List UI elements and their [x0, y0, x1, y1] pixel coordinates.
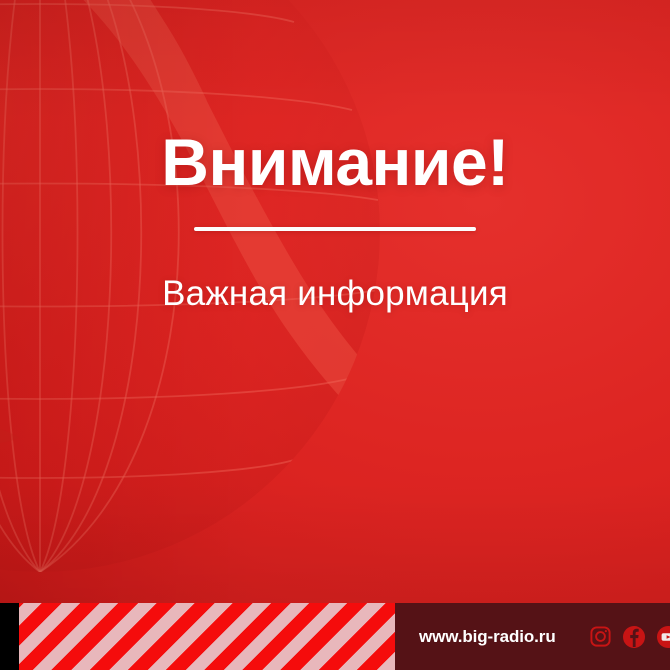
poster-content: Внимание! Важная информация [0, 128, 670, 314]
announcement-poster: Внимание! Важная информация www.big-radi… [0, 0, 670, 670]
instagram-icon[interactable] [588, 624, 613, 649]
title-divider-row [40, 227, 630, 231]
facebook-icon[interactable] [622, 624, 647, 649]
title-divider [194, 227, 476, 231]
youtube-icon[interactable] [656, 624, 670, 649]
page-title: Внимание! [40, 128, 630, 197]
footer-bar: www.big-radio.ru [0, 603, 670, 670]
social-links [588, 624, 670, 649]
background-fill [0, 0, 670, 670]
site-url-label[interactable]: www.big-radio.ru [419, 627, 556, 647]
footer-info-panel: www.big-radio.ru [395, 603, 670, 670]
footer-hazard-stripes [19, 603, 395, 670]
footer-black-cap [0, 603, 19, 670]
page-subtitle: Важная информация [40, 274, 630, 314]
